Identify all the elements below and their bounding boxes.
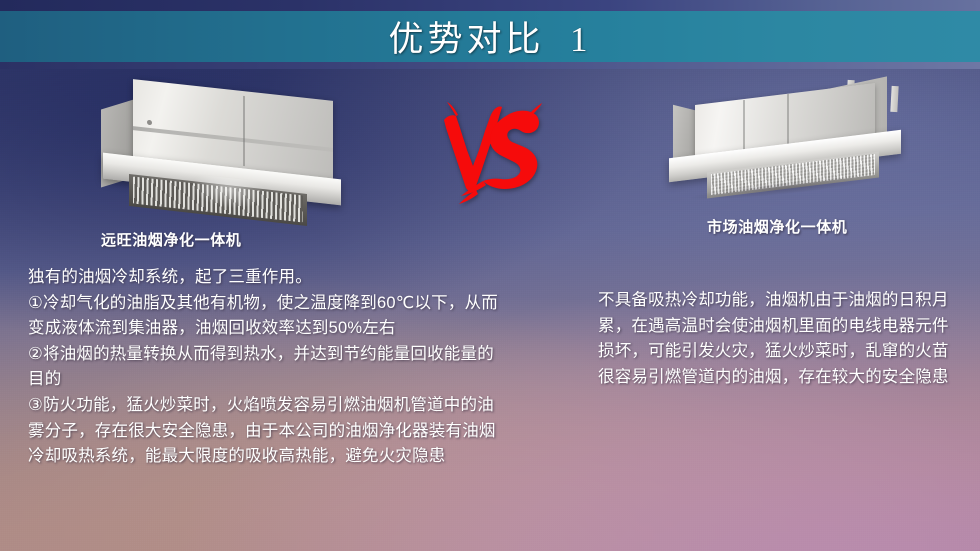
left-hood-bolt bbox=[147, 120, 152, 126]
right-hood-panel-seam-b bbox=[787, 94, 789, 146]
right-product-image bbox=[665, 78, 920, 196]
slide-header: 优势对比 1 bbox=[0, 0, 980, 69]
right-hood-panel-seam-a bbox=[743, 100, 745, 152]
vs-badge bbox=[443, 98, 543, 210]
left-product-image bbox=[95, 86, 365, 206]
right-product-caption: 市场油烟净化一体机 bbox=[707, 216, 847, 237]
page-title: 优势对比 1 bbox=[0, 11, 980, 62]
left-hood-panel-seam bbox=[243, 96, 245, 166]
slide-root: 优势对比 1 bbox=[0, 0, 980, 551]
right-description-text: 不具备吸热冷却功能，油烟机由于油烟的日积月累，在遇高温时会使油烟机里面的电线电器… bbox=[598, 288, 958, 390]
header-bottom-strip bbox=[0, 62, 980, 69]
right-hood-bracket-right bbox=[890, 86, 898, 112]
left-product-caption: 远旺油烟净化一体机 bbox=[101, 229, 241, 250]
header-top-strip bbox=[0, 0, 980, 11]
left-description-text: 独有的油烟冷却系统，起了三重作用。 ①冷却气化的油脂及其他有机物，使之温度降到6… bbox=[28, 265, 498, 470]
